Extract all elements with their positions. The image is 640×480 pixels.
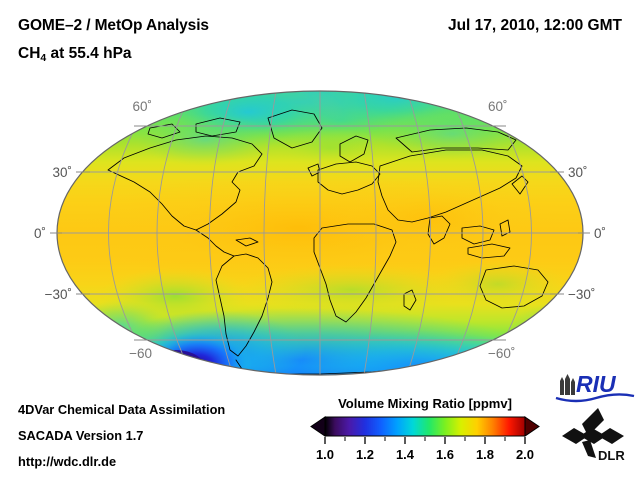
- page-title: GOME–2 / MetOp Analysis: [18, 17, 209, 35]
- colorbar-title: Volume Mixing Ratio [ppmv]: [305, 396, 545, 411]
- lat-label-left-0: 0˚: [34, 226, 46, 241]
- figure-canvas: GOME–2 / MetOp Analysis CH4 at 55.4 hPa …: [0, 0, 640, 480]
- map-panel: 60˚ 30˚ 0˚ −30˚ −60 60˚ 30˚ 0˚ −30˚ −60˚: [0, 78, 640, 388]
- lat-label-left-30: 30˚: [52, 165, 72, 180]
- footer-line-version: SACADA Version 1.7: [18, 428, 143, 443]
- colorbar-minor-ticks: [345, 437, 505, 441]
- species-subscript: 4: [40, 52, 46, 64]
- lat-label-right-m60: −60˚: [488, 346, 515, 361]
- riu-logo: RIU: [554, 373, 636, 403]
- species-prefix: CH: [18, 45, 40, 62]
- mollweide-map: 60˚ 30˚ 0˚ −30˚ −60 60˚ 30˚ 0˚ −30˚ −60˚: [0, 78, 640, 388]
- dlr-logo: DLR: [558, 406, 636, 464]
- lat-label-left-60: 60˚: [132, 99, 152, 114]
- colorbar: Volume Mixing Ratio [ppmv]: [305, 396, 545, 474]
- lat-label-left-m30: −30˚: [45, 287, 72, 302]
- species-suffix: at 55.4 hPa: [46, 45, 131, 62]
- timestamp-label: Jul 17, 2010, 12:00 GMT: [448, 17, 622, 35]
- lat-label-right-30: 30˚: [568, 165, 588, 180]
- lat-label-left-m60: −60: [129, 346, 152, 361]
- footer-line-assimilation: 4DVar Chemical Data Assimilation: [18, 402, 225, 417]
- colorbar-gradient: [325, 417, 525, 436]
- colorbar-tick-label-0: 1.0: [316, 447, 334, 462]
- colorbar-tick-label-5: 2.0: [516, 447, 534, 462]
- colorbar-extend-max: [525, 417, 539, 436]
- lat-label-right-m30: −30˚: [568, 287, 595, 302]
- riu-tower-icon: [560, 374, 575, 395]
- riu-logo-text: RIU: [576, 373, 617, 397]
- lat-label-right-0: 0˚: [594, 226, 606, 241]
- colorbar-tick-label-1: 1.2: [356, 447, 374, 462]
- dlr-logo-text: DLR: [598, 448, 625, 463]
- footer-line-url[interactable]: http://wdc.dlr.de: [18, 454, 116, 469]
- colorbar-tick-label-4: 1.8: [476, 447, 494, 462]
- lat-label-right-60: 60˚: [488, 99, 508, 114]
- species-subtitle: CH4 at 55.4 hPa: [18, 45, 132, 63]
- colorbar-scale: 1.0 1.2 1.4 1.6 1.8 2.0: [305, 416, 545, 472]
- colorbar-tick-label-3: 1.6: [436, 447, 454, 462]
- colorbar-extend-min: [311, 417, 325, 436]
- colorbar-tick-label-2: 1.4: [396, 447, 415, 462]
